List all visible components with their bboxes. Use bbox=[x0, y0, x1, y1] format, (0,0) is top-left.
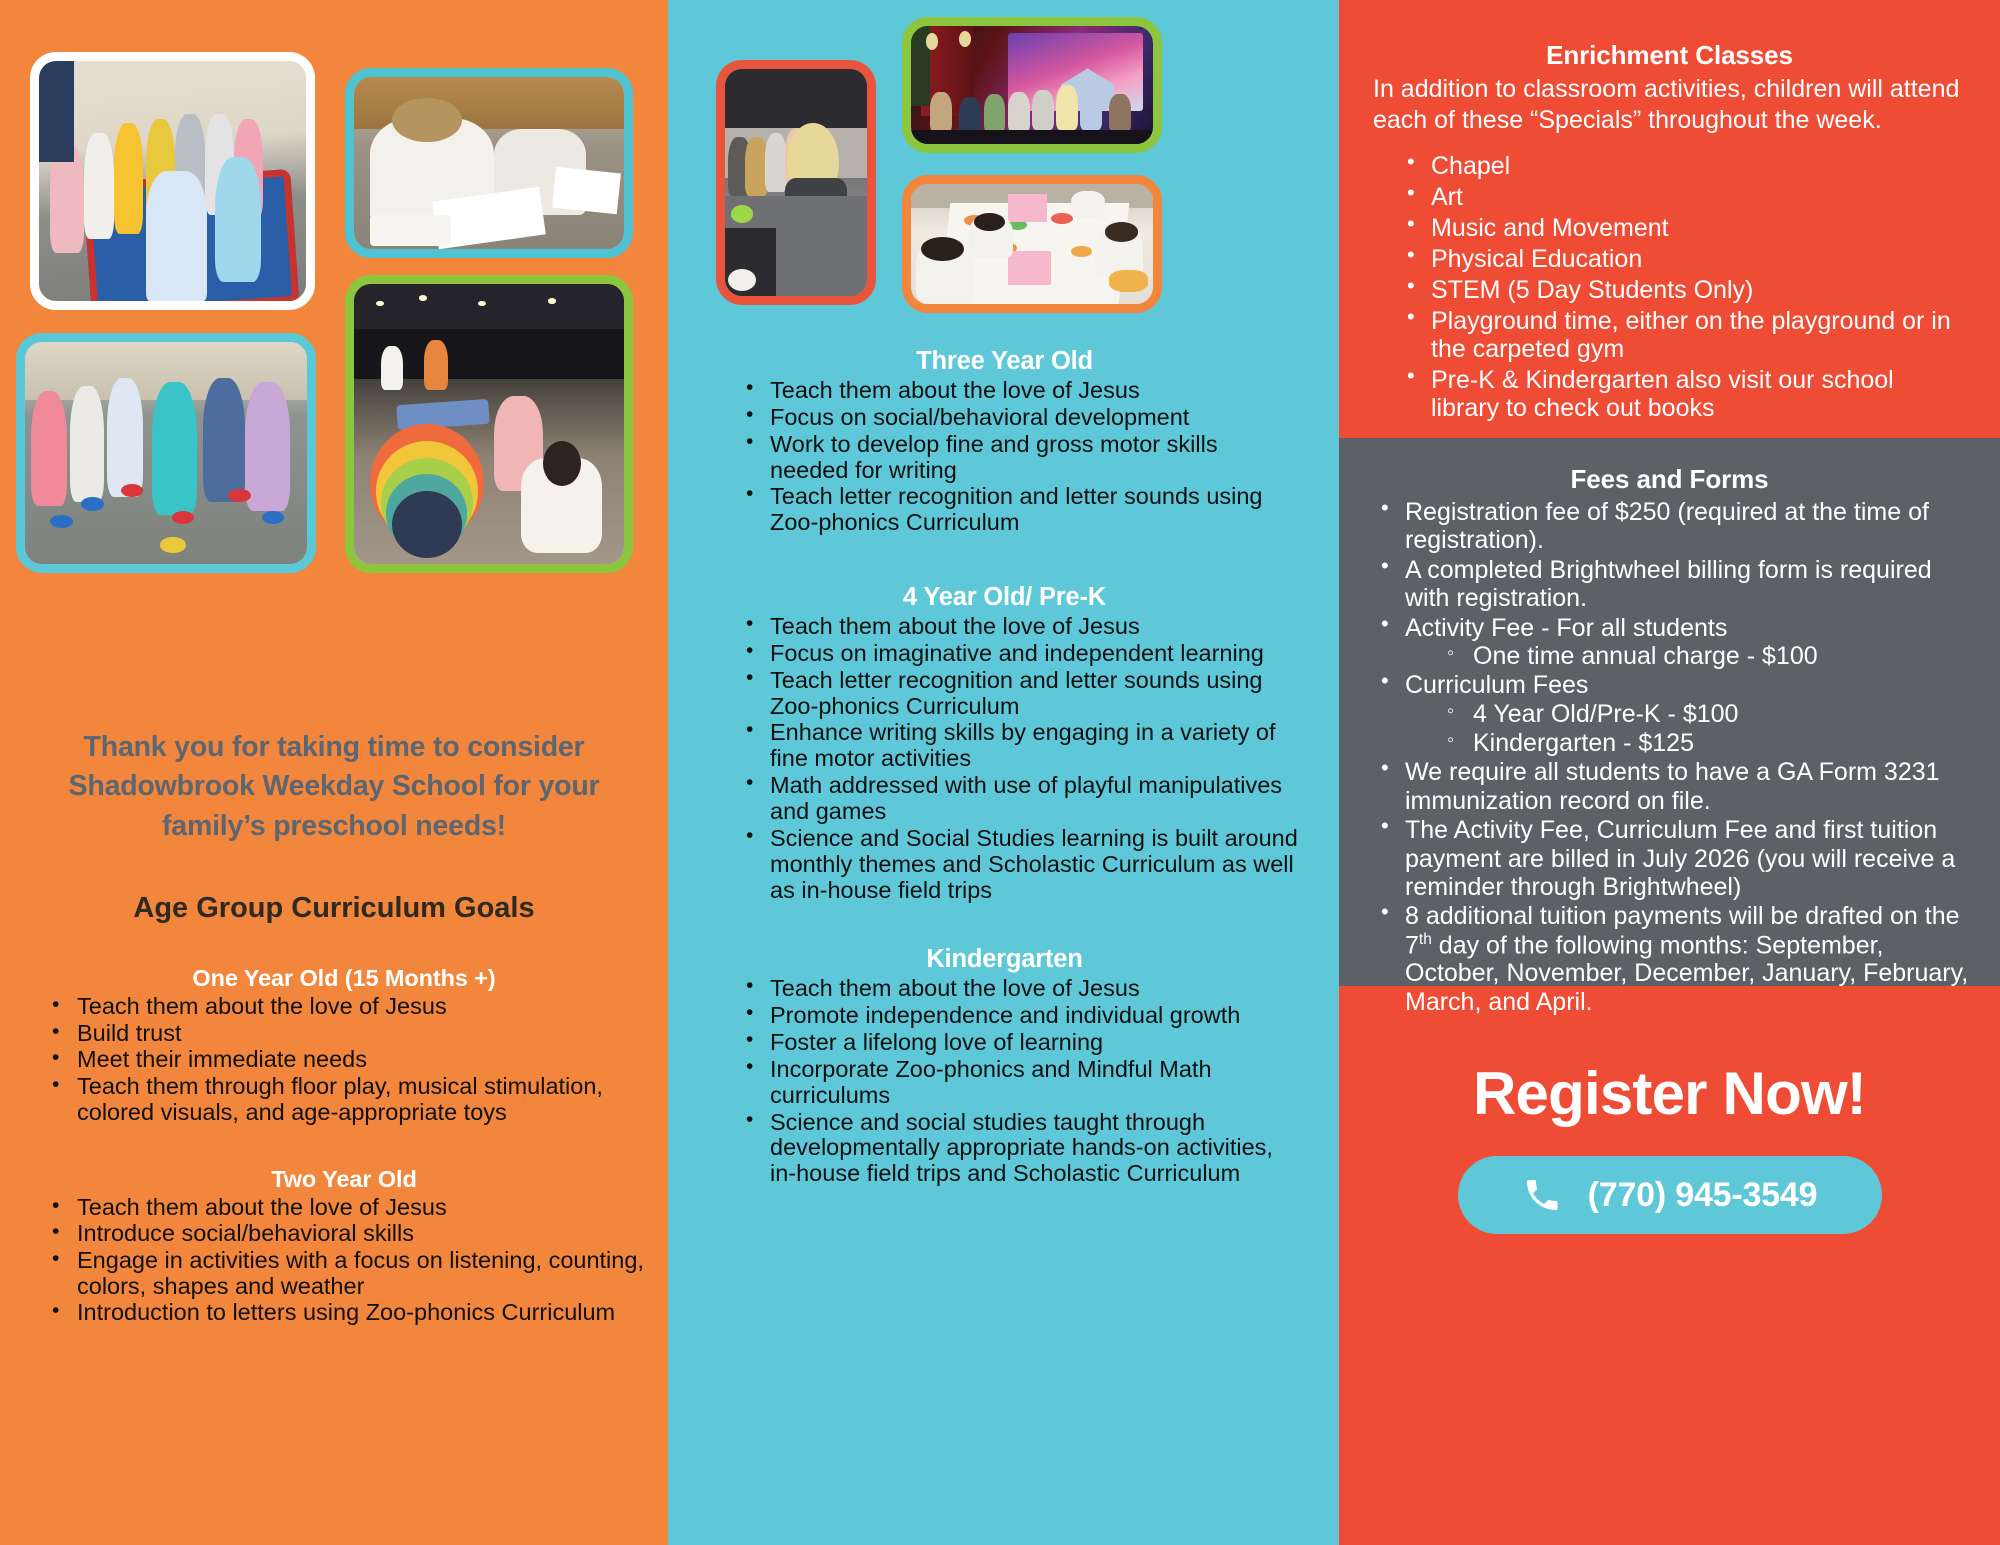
section-heading: Three Year Old bbox=[710, 347, 1299, 376]
fees-sublist: One time annual charge - $100 bbox=[1405, 642, 1970, 670]
art-table-painting-photo bbox=[902, 175, 1162, 313]
list-item: Teach letter recognition and letter soun… bbox=[742, 668, 1299, 720]
middle-photo-collage bbox=[668, 0, 1339, 345]
list-item: Focus on imaginative and independent lea… bbox=[742, 641, 1299, 667]
phone-cta-button[interactable]: (770) 945-3549 bbox=[1458, 1156, 1882, 1234]
list-item: Chapel bbox=[1403, 152, 1966, 180]
list-item: Teach them about the love of Jesus bbox=[742, 976, 1299, 1002]
fees-heading: Fees and Forms bbox=[1369, 464, 1970, 495]
fees-list: Registration fee of $250 (required at th… bbox=[1369, 498, 1970, 1016]
enrichment-heading: Enrichment Classes bbox=[1373, 40, 1966, 71]
list-item: Music and Movement bbox=[1403, 214, 1966, 242]
list-item: Math addressed with use of playful manip… bbox=[742, 773, 1299, 825]
section-three-year-old: Three Year Old Teach them about the love… bbox=[668, 347, 1339, 536]
section-list: Teach them about the love of Jesus Focus… bbox=[710, 614, 1299, 903]
list-item: Engage in activities with a focus on lis… bbox=[44, 1248, 644, 1299]
list-item: The Activity Fee, Curriculum Fee and fir… bbox=[1371, 816, 1970, 901]
list-item: Curriculum Fees 4 Year Old/Pre-K - $100 … bbox=[1371, 671, 1970, 757]
list-item: Science and social studies taught throug… bbox=[742, 1110, 1299, 1188]
list-item: Art bbox=[1403, 183, 1966, 211]
list-item-text: Curriculum Fees bbox=[1405, 671, 1588, 699]
fees-sublist: 4 Year Old/Pre-K - $100 Kindergarten - $… bbox=[1405, 700, 1970, 758]
chapel-prayer-photo bbox=[716, 60, 876, 305]
phone-number: (770) 945-3549 bbox=[1588, 1176, 1818, 1215]
list-item: Teach them about the love of Jesus bbox=[742, 614, 1299, 640]
section-heading: 4 Year Old/ Pre-K bbox=[710, 583, 1299, 612]
list-item: Pre-K & Kindergarten also visit our scho… bbox=[1403, 366, 1966, 422]
section-four-year-old-prek: 4 Year Old/ Pre-K Teach them about the l… bbox=[668, 583, 1339, 903]
fees-and-forms-panel: Fees and Forms Registration fee of $250 … bbox=[1339, 438, 2000, 986]
list-item: Build trust bbox=[44, 1021, 644, 1047]
group-heading: One Year Old (15 Months +) bbox=[44, 965, 644, 992]
register-now-title: Register Now! bbox=[1473, 1064, 1866, 1124]
sub-list-item: One time annual charge - $100 bbox=[1439, 642, 1970, 670]
list-item: Enhance writing skills by engaging in a … bbox=[742, 720, 1299, 772]
group-list: Teach them about the love of Jesus Build… bbox=[44, 994, 644, 1126]
section-list: Teach them about the love of Jesus Focus… bbox=[710, 378, 1299, 536]
list-item-text: Activity Fee - For all students bbox=[1405, 614, 1727, 642]
left-orange-column: Thank you for taking time to consider Sh… bbox=[0, 0, 668, 1545]
classroom-dot-game-photo bbox=[16, 333, 316, 573]
christmas-program-stage-photo bbox=[902, 17, 1162, 153]
list-item: Teach letter recognition and letter soun… bbox=[742, 484, 1299, 536]
section-kindergarten: Kindergarten Teach them about the love o… bbox=[668, 945, 1339, 1187]
list-item: Registration fee of $250 (required at th… bbox=[1371, 498, 1970, 555]
circle-time-classroom-photo bbox=[30, 52, 315, 310]
list-item: Introduction to letters using Zoo-phonic… bbox=[44, 1300, 644, 1326]
brochure-page: Thank you for taking time to consider Sh… bbox=[0, 0, 2000, 1545]
enrichment-list: Chapel Art Music and Movement Physical E… bbox=[1373, 152, 1966, 422]
list-item: We require all students to have a GA For… bbox=[1371, 758, 1970, 815]
left-photo-collage bbox=[0, 0, 668, 740]
section-list: Teach them about the love of Jesus Promo… bbox=[710, 976, 1299, 1187]
list-item: Incorporate Zoo-phonics and Mindful Math… bbox=[742, 1057, 1299, 1109]
list-item: Meet their immediate needs bbox=[44, 1047, 644, 1073]
sub-list-item: 4 Year Old/Pre-K - $100 bbox=[1439, 700, 1970, 728]
list-item: Physical Education bbox=[1403, 245, 1966, 273]
register-panel: Register Now! (770) 945-3549 bbox=[1339, 986, 2000, 1545]
list-item: Work to develop fine and gross motor ski… bbox=[742, 432, 1299, 484]
ordinal-suffix: th bbox=[1419, 931, 1432, 948]
group-list: Teach them about the love of Jesus Intro… bbox=[44, 1195, 644, 1327]
list-item: Teach them about the love of Jesus bbox=[44, 994, 644, 1020]
list-item: Focus on social/behavioral development bbox=[742, 405, 1299, 431]
list-item: 8 additional tuition payments will be dr… bbox=[1371, 902, 1970, 1016]
list-item: Science and Social Studies learning is b… bbox=[742, 826, 1299, 904]
list-item: Teach them about the love of Jesus bbox=[742, 378, 1299, 404]
list-item: Activity Fee - For all students One time… bbox=[1371, 614, 1970, 671]
group-heading: Two Year Old bbox=[44, 1166, 644, 1193]
phone-icon bbox=[1522, 1175, 1562, 1215]
list-item: Playground time, either on the playgroun… bbox=[1403, 307, 1966, 363]
list-item: A completed Brightwheel billing form is … bbox=[1371, 556, 1970, 613]
age-group-two-year-old: Two Year Old Teach them about the love o… bbox=[0, 1166, 668, 1327]
sub-list-item: Kindergarten - $125 bbox=[1439, 729, 1970, 757]
list-item: Promote independence and individual grow… bbox=[742, 1003, 1299, 1029]
gym-tunnel-crawl-photo bbox=[345, 275, 633, 573]
list-item: Teach them through floor play, musical s… bbox=[44, 1074, 644, 1125]
right-column: Enrichment Classes In addition to classr… bbox=[1339, 0, 2000, 1545]
thank-you-message: Thank you for taking time to consider Sh… bbox=[0, 728, 668, 846]
list-item: Teach them about the love of Jesus bbox=[44, 1195, 644, 1221]
list-item: STEM (5 Day Students Only) bbox=[1403, 276, 1966, 304]
enrichment-paragraph: In addition to classroom activities, chi… bbox=[1373, 74, 1966, 136]
age-group-one-year-old: One Year Old (15 Months +) Teach them ab… bbox=[0, 965, 668, 1126]
enrichment-classes-panel: Enrichment Classes In addition to classr… bbox=[1339, 0, 2000, 438]
list-item-text-post: day of the following months: September, … bbox=[1405, 931, 1968, 1016]
middle-teal-column: Three Year Old Teach them about the love… bbox=[668, 0, 1339, 1545]
list-item: Introduce social/behavioral skills bbox=[44, 1221, 644, 1247]
age-group-curriculum-goals-title: Age Group Curriculum Goals bbox=[0, 892, 668, 925]
list-item: Foster a lifelong love of learning bbox=[742, 1030, 1299, 1056]
floor-activity-worksheet-photo bbox=[345, 68, 633, 258]
section-heading: Kindergarten bbox=[710, 945, 1299, 974]
